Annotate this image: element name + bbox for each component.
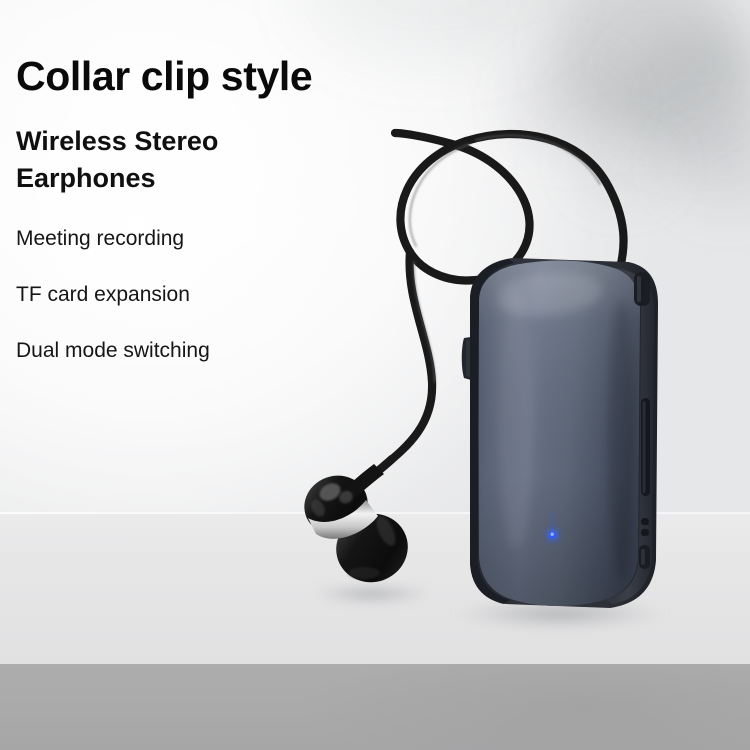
feature-list: Meeting recording TF card expansion Dual… bbox=[16, 228, 436, 361]
product-subtitle-line2: Earphones bbox=[16, 163, 156, 193]
product-subtitle-line1: Wireless Stereo bbox=[16, 126, 218, 156]
product-subtitle: Wireless Stereo Earphones bbox=[16, 123, 436, 198]
foreground-band bbox=[0, 664, 750, 750]
marketing-copy: Collar clip style Wireless Stereo Earpho… bbox=[16, 56, 436, 361]
product-banner: Collar clip style Wireless Stereo Earpho… bbox=[0, 0, 750, 750]
list-item: TF card expansion bbox=[16, 284, 436, 305]
list-item: Meeting recording bbox=[16, 228, 436, 249]
page-title: Collar clip style bbox=[16, 56, 436, 97]
list-item: Dual mode switching bbox=[16, 340, 436, 361]
tabletop-surface bbox=[0, 512, 750, 664]
